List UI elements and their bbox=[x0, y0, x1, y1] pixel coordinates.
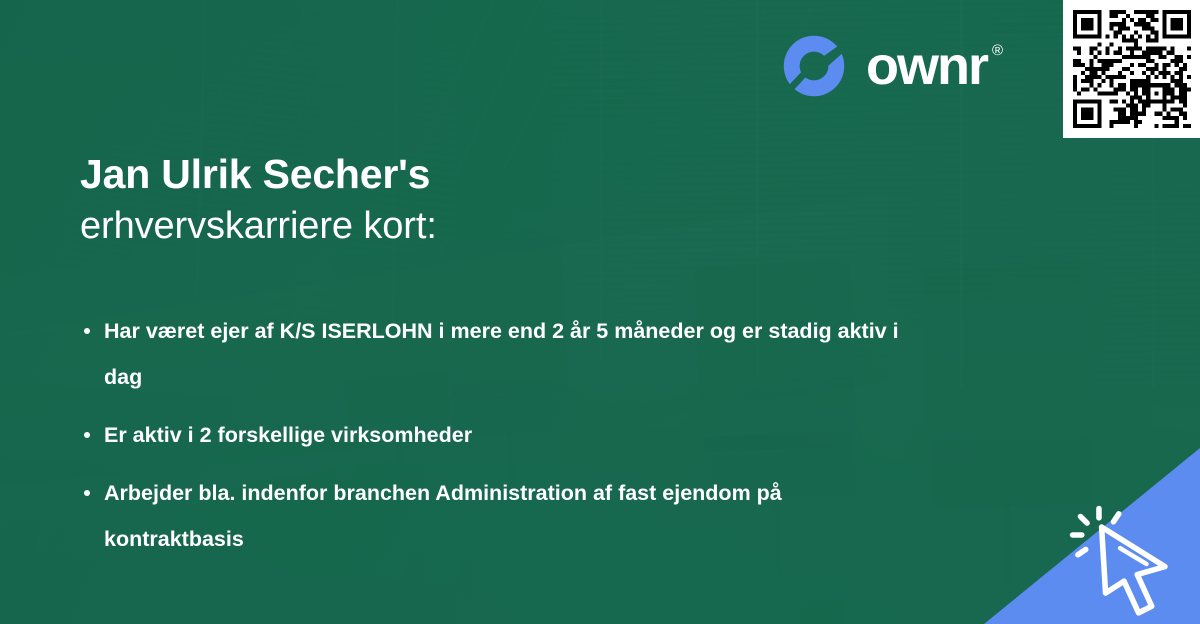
bullet-dot-icon bbox=[84, 490, 90, 496]
title-line-secondary: erhvervskarriere kort: bbox=[80, 204, 840, 249]
list-item: Er aktiv i 2 forskellige virksomheder bbox=[80, 412, 924, 458]
registered-trademark-icon: ® bbox=[992, 43, 1003, 58]
title-line-primary: Jan Ulrik Secher's bbox=[80, 150, 840, 198]
ownr-wordmark: ownr® bbox=[866, 39, 1003, 93]
page-title: Jan Ulrik Secher's erhvervskarriere kort… bbox=[80, 150, 840, 249]
list-item-text: Arbejder bla. indenfor branchen Administ… bbox=[104, 470, 924, 562]
ownr-circle-logo-icon bbox=[778, 30, 850, 102]
qr-code-icon[interactable] bbox=[1073, 10, 1191, 128]
list-item: Arbejder bla. indenfor branchen Administ… bbox=[80, 470, 924, 562]
ownr-logo[interactable]: ownr® bbox=[778, 30, 1003, 102]
list-item: Har været ejer af K/S ISERLOHN i mere en… bbox=[80, 308, 924, 400]
qr-code-panel[interactable] bbox=[1063, 0, 1200, 138]
career-facts-list: Har været ejer af K/S ISERLOHN i mere en… bbox=[80, 308, 980, 574]
bullet-dot-icon bbox=[84, 432, 90, 438]
bullet-dot-icon bbox=[84, 328, 90, 334]
corner-accent bbox=[984, 448, 1200, 624]
list-item-text: Er aktiv i 2 forskellige virksomheder bbox=[104, 412, 924, 458]
click-cursor-icon bbox=[1062, 498, 1194, 624]
ownr-wordmark-text: ownr bbox=[866, 36, 987, 96]
ownr-career-card: Jan Ulrik Secher's erhvervskarriere kort… bbox=[0, 0, 1200, 624]
list-item-text: Har været ejer af K/S ISERLOHN i mere en… bbox=[104, 308, 924, 400]
